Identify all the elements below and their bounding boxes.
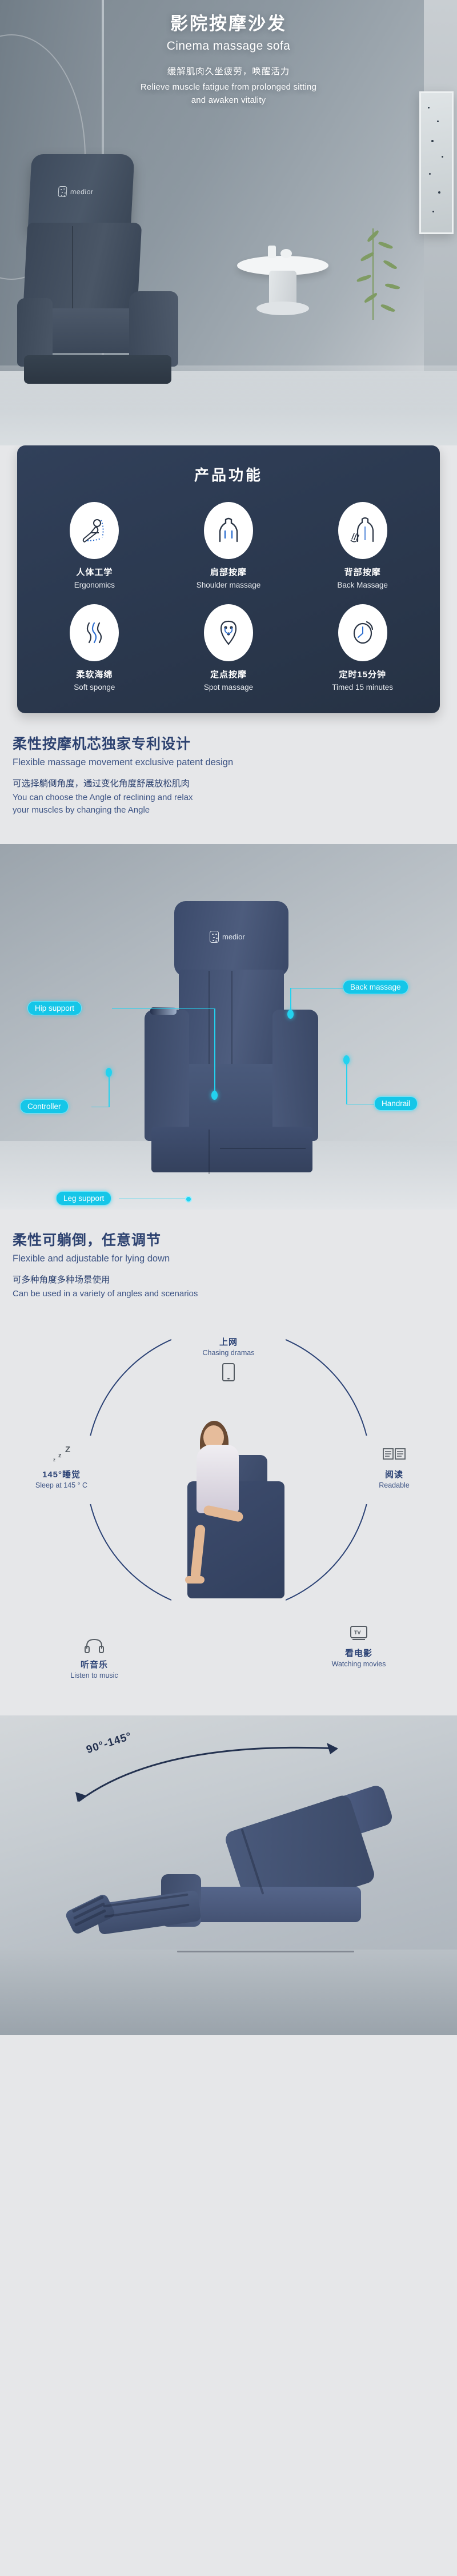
- chair-base: [24, 355, 171, 384]
- features-grid: 人体工学 Ergonomics 肩部按摩 Shoulder massage: [27, 502, 430, 692]
- table-object-2: [280, 249, 292, 258]
- recline-title-en: Flexible and adjustable for lying down: [13, 1253, 444, 1264]
- feature-item-back-massage[interactable]: 背部按摩 Back Massage: [295, 502, 430, 589]
- chair-arm-right: [272, 1010, 318, 1141]
- callout-back-massage[interactable]: Back massage: [343, 980, 408, 994]
- hero-subtitle-en-line2: and awaken vitality: [0, 94, 457, 107]
- features-title: 产品功能: [27, 464, 430, 485]
- product-detail-page: medior 影院按摩沙发: [0, 0, 457, 2035]
- svg-text:TV: TV: [354, 1630, 361, 1635]
- recline-desc-cn: 可多种角度多种场景使用: [13, 1273, 444, 1285]
- hotspot-hip-support: [211, 1091, 218, 1100]
- side-table: [237, 256, 328, 324]
- hotspot-handrail: [343, 1055, 350, 1064]
- feature-item-ergonomics[interactable]: 人体工学 Ergonomics: [27, 502, 162, 589]
- hero-section: medior 影院按摩沙发: [0, 0, 457, 445]
- scenario-label-cn: 上网: [174, 1336, 283, 1348]
- brand-logo: medior: [210, 931, 245, 943]
- feature-label-cn: 定时15分钟: [295, 668, 430, 680]
- feature-label-en: Back Massage: [295, 581, 430, 589]
- feature-item-soft-sponge[interactable]: 柔软海绵 Soft sponge: [27, 604, 162, 692]
- hero-chair-photo: medior: [17, 154, 200, 394]
- hotspot-back-massage: [287, 1010, 294, 1019]
- chair-seam-right: [231, 971, 232, 1069]
- hotspot-controller: [106, 1068, 112, 1077]
- back-hand-icon: [338, 502, 387, 559]
- chair-seam-center: [209, 971, 210, 1069]
- hero-title-en: Cinema massage sofa: [0, 39, 457, 53]
- brand-name: medior: [222, 933, 245, 941]
- location-pin-icon: [204, 604, 253, 661]
- svg-text:z: z: [53, 1457, 55, 1462]
- hero-subtitle-cn: 缓解肌肉久坐疲劳，唤醒活力: [0, 65, 457, 77]
- callout-handrail[interactable]: Handrail: [374, 1096, 418, 1111]
- tv-icon: TV: [302, 1624, 416, 1643]
- base-seam-h: [220, 1148, 306, 1149]
- scenario-label-cn: 145°睡觉: [11, 1468, 111, 1480]
- scenario-label-en: Sleep at 145 ° C: [11, 1481, 111, 1489]
- scenario-label-cn: 听音乐: [37, 1658, 151, 1670]
- patent-text-section: 柔性按摩机芯独家专利设计 Flexible massage movement e…: [0, 713, 457, 821]
- patent-desc-cn: 可选择躺倒角度，通过变化角度舒展放松肌肉: [13, 777, 444, 789]
- chair-seam: [72, 226, 73, 312]
- reclined-chair: [63, 1801, 406, 1990]
- patent-title-cn: 柔性按摩机芯独家专利设计: [13, 733, 444, 753]
- table-stem: [269, 271, 296, 306]
- clock-icon: [338, 604, 387, 661]
- logo-mark-icon: [210, 931, 219, 943]
- zzz-icon: Z z z: [11, 1444, 111, 1464]
- annotated-chair-section: medior Back massage Hip support: [0, 844, 457, 1209]
- feature-label-cn: 人体工学: [27, 566, 162, 578]
- feature-label-en: Timed 15 minutes: [295, 683, 430, 692]
- book-icon: [346, 1444, 443, 1464]
- person-foot: [185, 1576, 205, 1584]
- feature-label-en: Ergonomics: [27, 581, 162, 589]
- features-card: 产品功能 人体工学 Ergonomics: [17, 445, 440, 713]
- scenario-label-cn: 阅读: [346, 1468, 443, 1480]
- callout-controller[interactable]: Controller: [20, 1099, 69, 1114]
- hero-text-block: 影院按摩沙发 Cinema massage sofa 缓解肌肉久坐疲劳，唤醒活力…: [0, 13, 457, 107]
- recline-title-cn: 柔性可躺倒，任意调节: [13, 1229, 444, 1249]
- svg-text:Z: Z: [65, 1445, 70, 1454]
- scenario-chasing-dramas[interactable]: 上网 Chasing dramas: [174, 1336, 283, 1383]
- feature-label-cn: 肩部按摩: [162, 566, 296, 578]
- brand-logo: medior: [58, 186, 94, 197]
- hero-subtitle-en-line1: Relieve muscle fatigue from prolonged si…: [0, 81, 457, 94]
- scenario-circle-section: 上网 Chasing dramas 阅读 Readable: [0, 1304, 457, 1715]
- patent-desc-en-line2: your muscles by changing the Angle: [13, 804, 444, 817]
- scenario-label-en: Watching movies: [302, 1660, 416, 1668]
- scenario-label-cn: 看电影: [302, 1647, 416, 1659]
- potted-plant: [343, 228, 417, 337]
- scenario-label-en: Listen to music: [37, 1671, 151, 1679]
- headphone-icon: [37, 1635, 151, 1655]
- callout-hip-support[interactable]: Hip support: [27, 1001, 82, 1015]
- feature-label-en: Soft sponge: [27, 683, 162, 692]
- recline-text-section: 柔性可躺倒，任意调节 Flexible and adjustable for l…: [0, 1209, 457, 1305]
- feature-item-timer[interactable]: 定时15分钟 Timed 15 minutes: [295, 604, 430, 692]
- person-body: [197, 1445, 239, 1513]
- svg-text:z: z: [58, 1452, 62, 1459]
- shoulder-icon: [204, 502, 253, 559]
- ergonomic-seat-icon: [70, 502, 119, 559]
- logo-mark-icon: [58, 186, 67, 197]
- feature-label-en: Shoulder massage: [162, 581, 296, 589]
- person-on-chair-photo: [171, 1413, 291, 1601]
- chair-arm-left: [145, 1010, 189, 1141]
- callout-leg-support[interactable]: Leg support: [56, 1191, 111, 1205]
- table-foot: [256, 302, 309, 315]
- spacer: [0, 821, 457, 844]
- table-object-1: [268, 246, 276, 258]
- hero-title-cn: 影院按摩沙发: [0, 13, 457, 35]
- scenario-watching-movies[interactable]: TV 看电影 Watching movies: [302, 1624, 416, 1668]
- feature-label-cn: 背部按摩: [295, 566, 430, 578]
- patent-desc-en-line1: You can choose the Angle of reclining an…: [13, 791, 444, 804]
- hotspot-leg-support: [185, 1196, 192, 1203]
- brand-name: medior: [70, 188, 94, 196]
- scenario-sleep[interactable]: Z z z 145°睡觉 Sleep at 145 ° C: [11, 1444, 111, 1489]
- feature-label-cn: 定点按摩: [162, 668, 296, 680]
- recline-angle-section: 90°-145°: [0, 1715, 457, 2035]
- wall-art-frame: [419, 91, 454, 234]
- scenario-readable[interactable]: 阅读 Readable: [346, 1444, 443, 1489]
- scenario-listen-music[interactable]: 听音乐 Listen to music: [37, 1635, 151, 1679]
- feature-label-en: Spot massage: [162, 683, 296, 692]
- tablet-icon: [174, 1363, 283, 1382]
- scenario-label-en: Readable: [346, 1481, 443, 1489]
- annotated-chair: medior: [146, 901, 317, 1170]
- feature-item-spot-massage[interactable]: 定点按摩 Spot massage: [162, 604, 296, 692]
- base-seam: [177, 1951, 354, 1952]
- recline-desc-en: Can be used in a variety of angles and s…: [13, 1288, 444, 1300]
- patent-title-en: Flexible massage movement exclusive pate…: [13, 757, 444, 768]
- base-seam: [209, 1130, 210, 1174]
- feature-item-shoulder-massage[interactable]: 肩部按摩 Shoulder massage: [162, 502, 296, 589]
- chair-base: [151, 1127, 312, 1172]
- feature-label-cn: 柔软海绵: [27, 668, 162, 680]
- wave-sponge-icon: [70, 604, 119, 661]
- scenario-label-en: Chasing dramas: [174, 1349, 283, 1357]
- chair-seat: [181, 1064, 282, 1132]
